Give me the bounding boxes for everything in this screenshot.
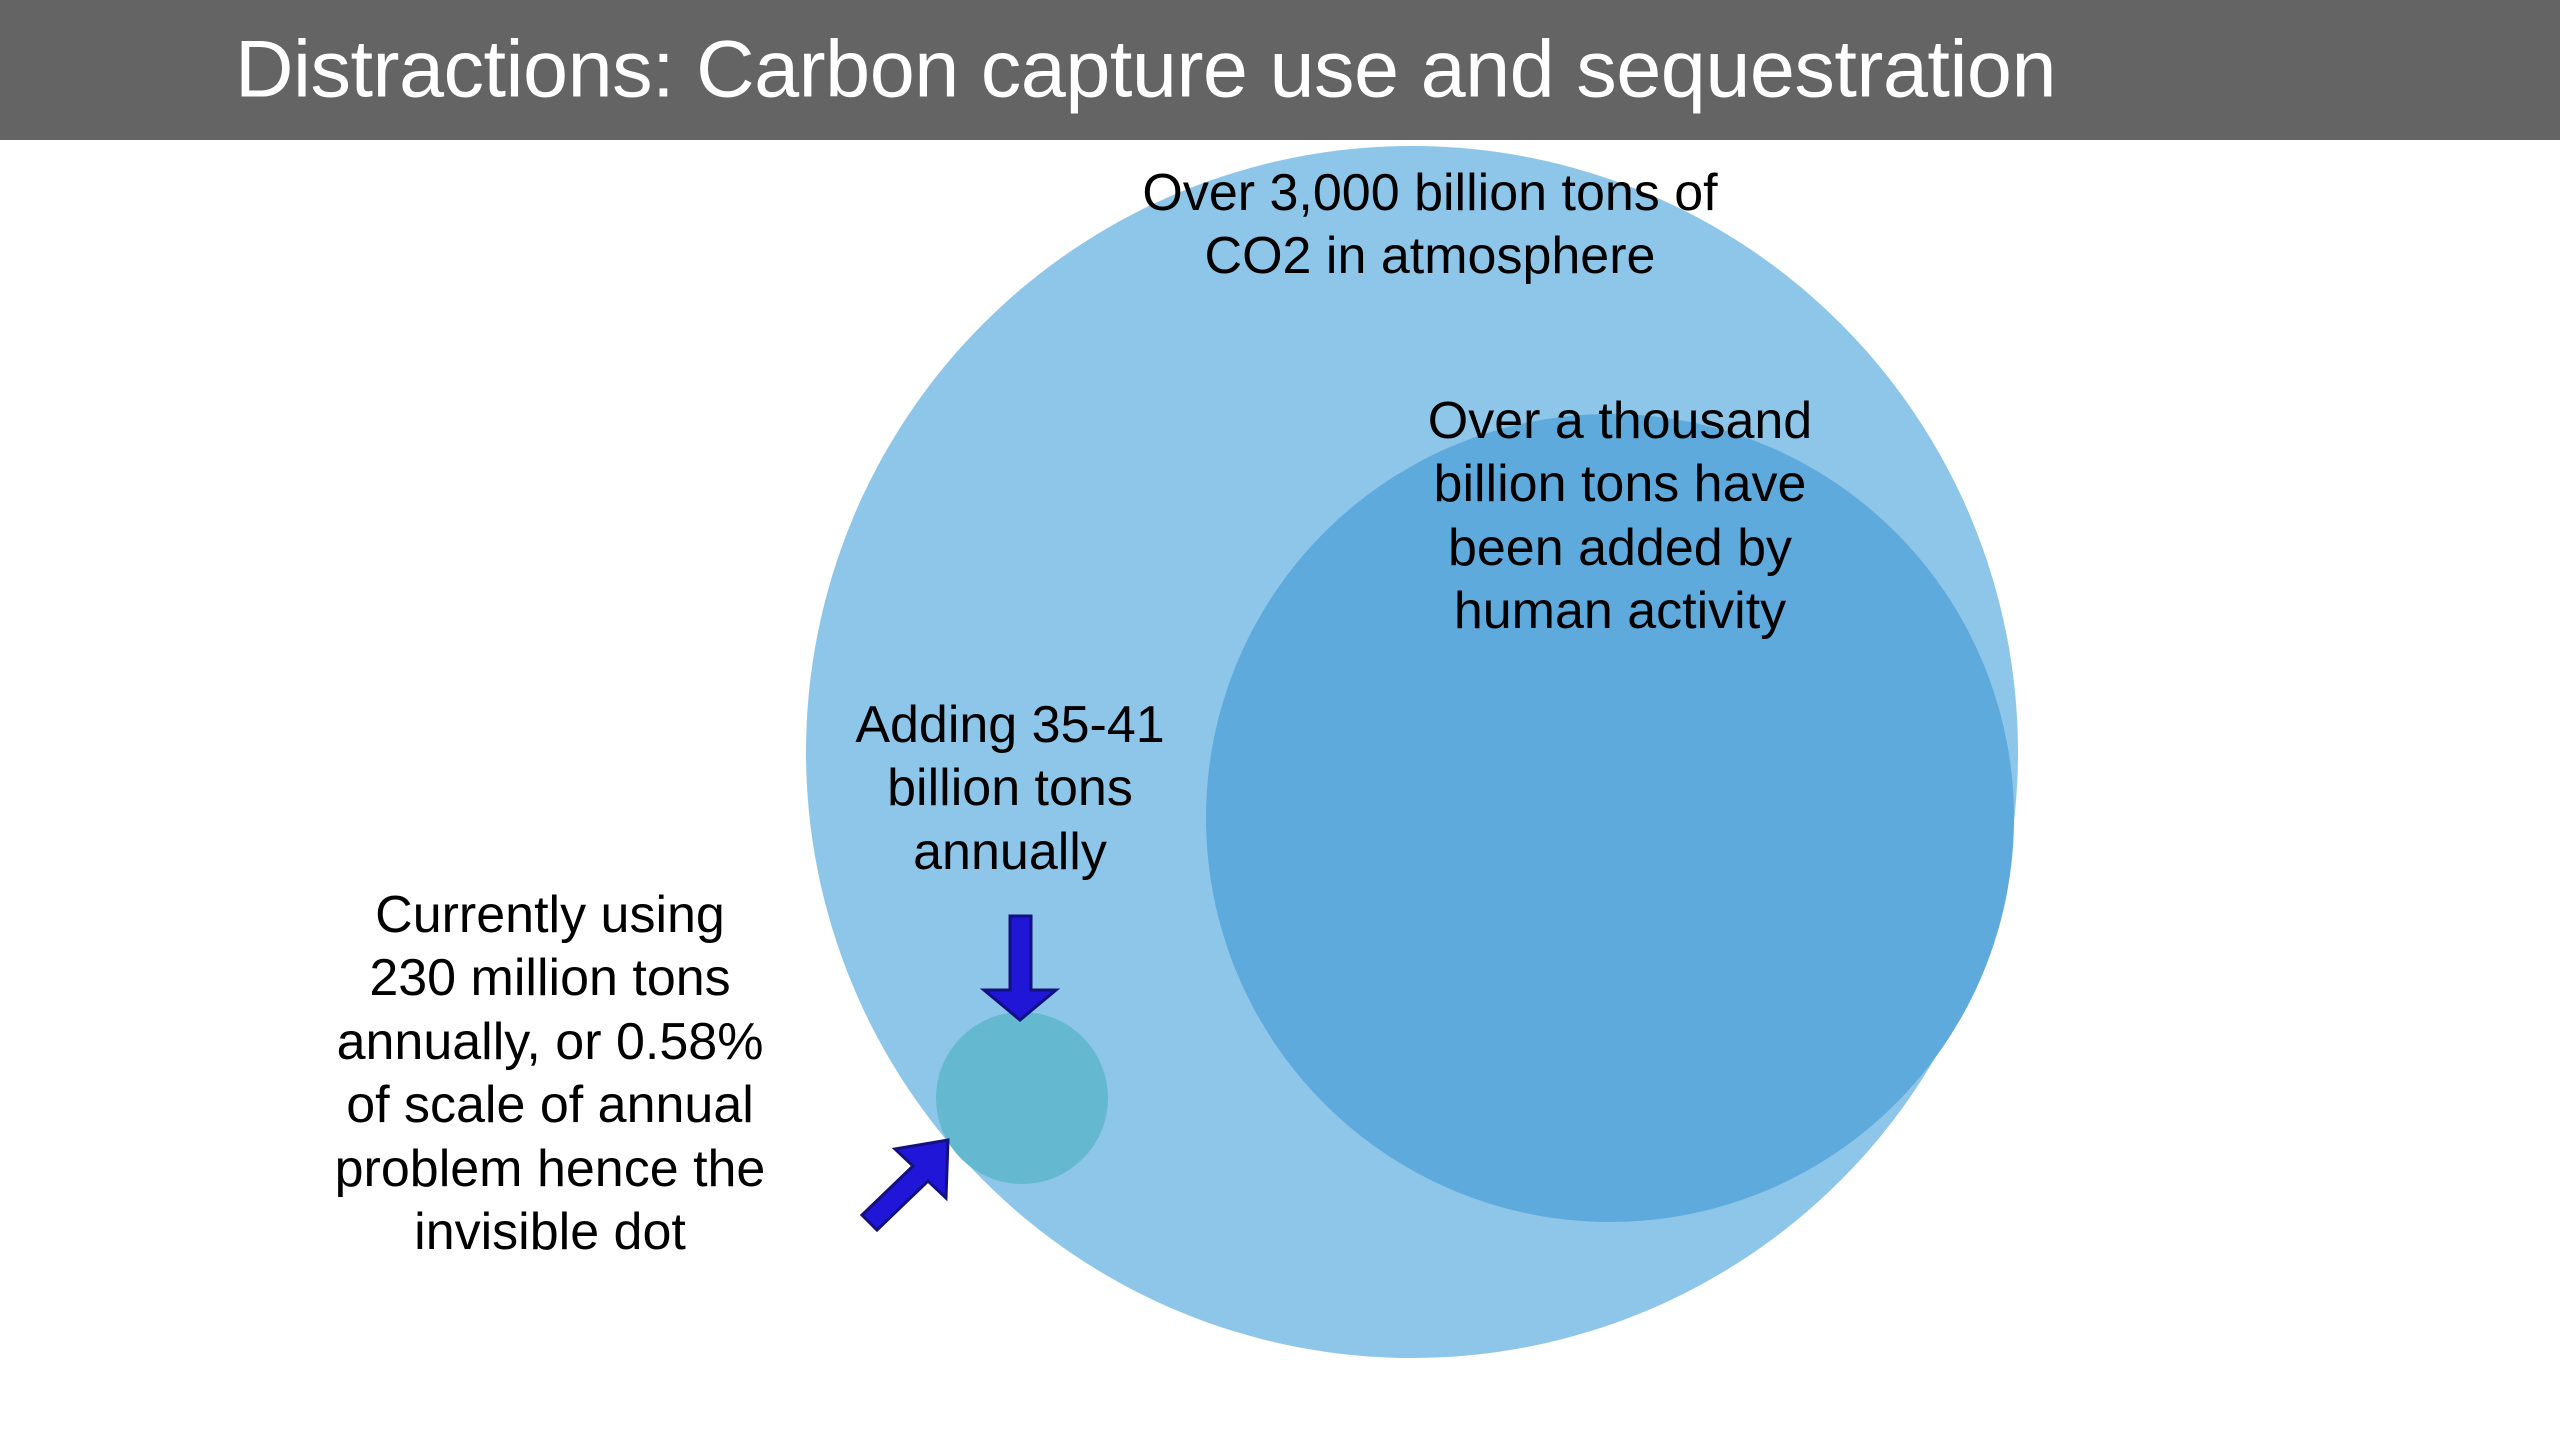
circle-ccus-usage-dot (936, 1012, 1108, 1184)
label-current-usage: Currently using 230 million tons annuall… (230, 884, 870, 1265)
slide-title-bar: Distractions: Carbon capture use and seq… (0, 0, 2560, 140)
label-human-added: Over a thousand billion tons have been a… (1360, 390, 1880, 644)
label-annual-additions: Adding 35-41 billion tons annually (760, 694, 1260, 884)
diagram-canvas: Over 3,000 billion tons of CO2 in atmosp… (0, 140, 2560, 1436)
page-title: Distractions: Carbon capture use and seq… (235, 30, 2056, 111)
label-atmosphere-total: Over 3,000 billion tons of CO2 in atmosp… (1030, 162, 1830, 289)
up-right-arrow-icon (862, 1140, 948, 1230)
